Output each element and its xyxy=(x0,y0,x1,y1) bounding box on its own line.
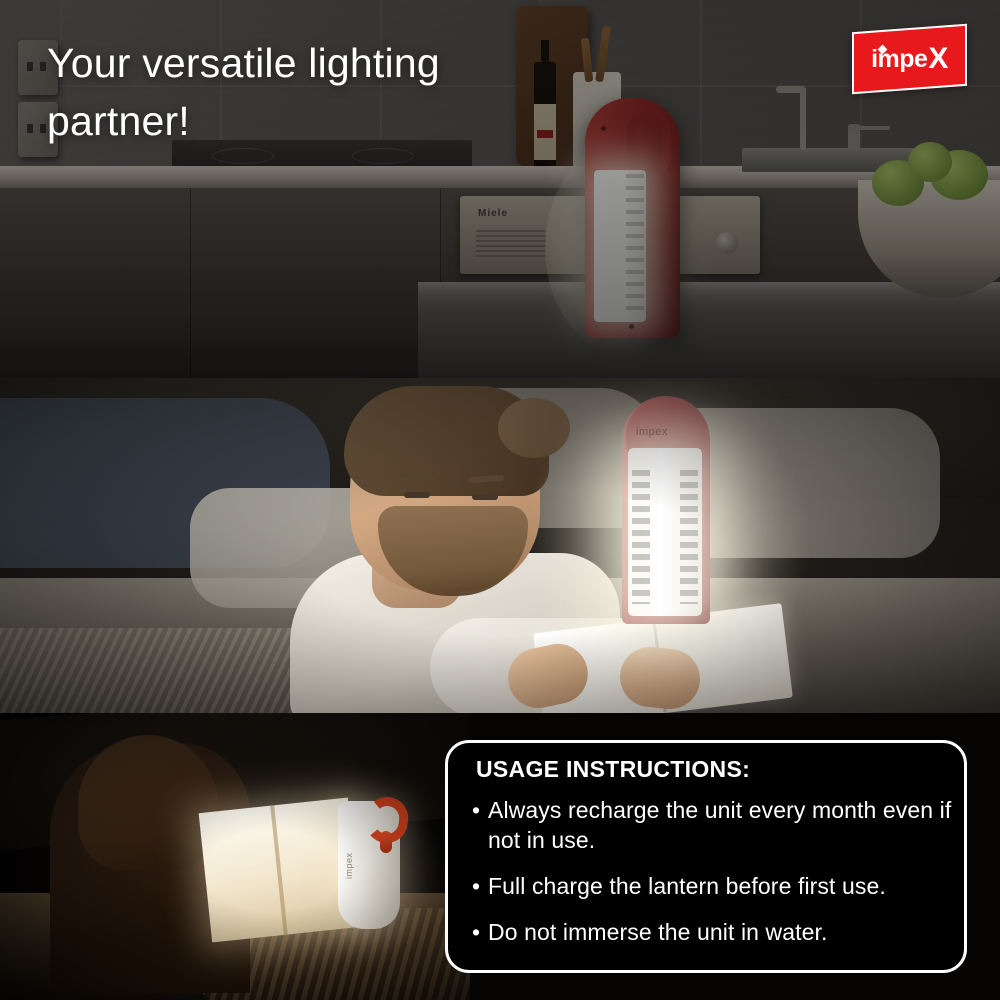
child-scene-photo: impex xyxy=(0,713,470,1000)
child-hair xyxy=(78,735,218,870)
panel-kitchen-scene: Miele Your versatile lighting partner! i… xyxy=(0,0,1000,378)
list-item: • Do not immerse the unit in water. xyxy=(472,918,952,948)
instructions-title: USAGE INSTRUCTIONS: xyxy=(476,756,750,783)
product-lantern-bedroom: impex xyxy=(622,396,710,624)
open-book xyxy=(199,798,362,943)
lantern-led-strip xyxy=(632,470,650,604)
lantern-led-panel xyxy=(628,448,702,616)
instruction-text: Always recharge the unit every month eve… xyxy=(488,796,952,856)
logo-wordmark: impeX xyxy=(854,30,965,88)
impex-logo: impeX xyxy=(852,24,967,94)
product-lantern-white: impex xyxy=(338,801,400,929)
book-spine xyxy=(270,805,288,935)
bullet-icon: • xyxy=(472,918,488,948)
man-eye xyxy=(404,492,430,498)
man-eye xyxy=(472,494,498,500)
lantern-brand-text: impex xyxy=(636,426,668,438)
usage-instructions-box: USAGE INSTRUCTIONS: • Always recharge th… xyxy=(445,740,967,973)
instructions-list: • Always recharge the unit every month e… xyxy=(472,796,952,964)
bullet-icon: • xyxy=(472,796,488,856)
logo-x-letter: X xyxy=(928,42,948,76)
instruction-text: Full charge the lantern before first use… xyxy=(488,872,952,902)
lantern-brand-text: impex xyxy=(344,852,354,879)
bullet-icon: • xyxy=(472,872,488,902)
page-title: Your versatile lighting partner! xyxy=(47,34,587,150)
panel-man-reading-scene: impex xyxy=(0,378,1000,713)
product-marketing-image: Miele Your versatile lighting partner! i… xyxy=(0,0,1000,1000)
lantern-led-strip xyxy=(680,470,698,604)
instruction-text: Do not immerse the unit in water. xyxy=(488,918,952,948)
logo-text: impe xyxy=(871,45,927,74)
list-item: • Always recharge the unit every month e… xyxy=(472,796,952,856)
list-item: • Full charge the lantern before first u… xyxy=(472,872,952,902)
lantern-power-button xyxy=(380,831,392,853)
